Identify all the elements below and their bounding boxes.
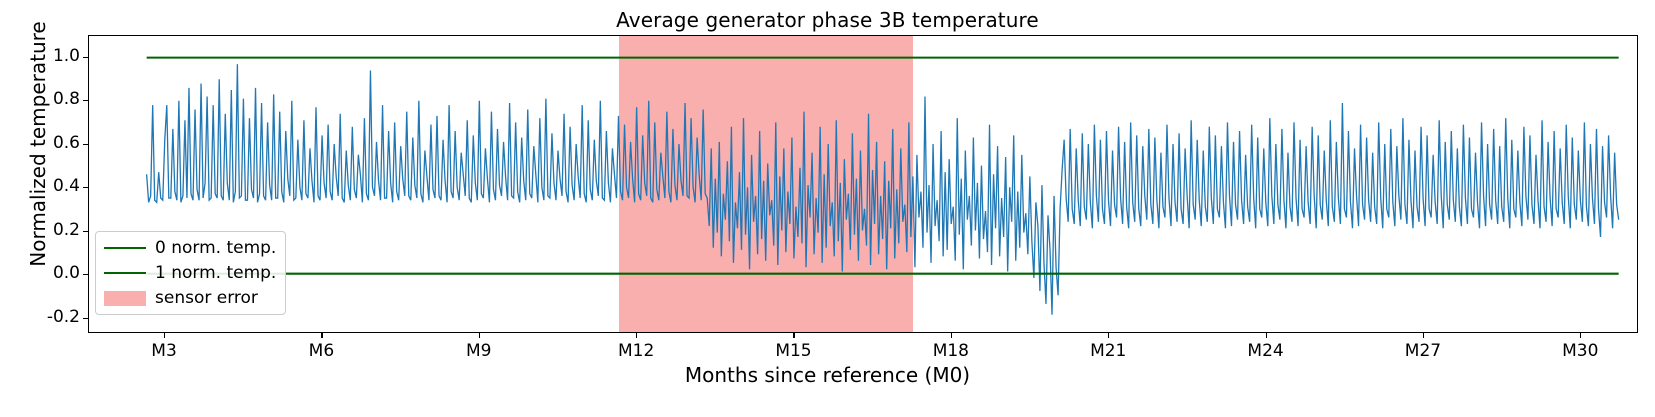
- x-tick-mark: [164, 333, 165, 338]
- legend-label: 1 norm. temp.: [155, 265, 276, 282]
- x-tick-mark: [951, 333, 952, 338]
- x-tick-mark: [479, 333, 480, 338]
- x-tick-label: M3: [124, 341, 204, 361]
- legend-line-icon: [104, 247, 146, 249]
- y-tick-label: 0.2: [20, 220, 80, 240]
- x-tick-mark: [321, 333, 322, 338]
- plot-area[interactable]: [88, 35, 1638, 333]
- x-tick-label: M21: [1068, 341, 1148, 361]
- y-tick-label: 0.4: [20, 176, 80, 196]
- legend-line-icon: [104, 272, 146, 274]
- legend-label: 0 norm. temp.: [155, 240, 276, 257]
- legend-patch-icon: [104, 291, 146, 306]
- x-tick-mark: [1108, 333, 1109, 338]
- y-tick-label: 0.8: [20, 89, 80, 109]
- y-tick-label: 1.0: [20, 46, 80, 66]
- figure-canvas: Average generator phase 3B temperature N…: [0, 0, 1655, 417]
- temperature-line: [147, 64, 1619, 315]
- chart-title: Average generator phase 3B temperature: [0, 8, 1655, 32]
- legend-item-1: 1 norm. temp.: [104, 263, 276, 283]
- x-tick-label: M18: [911, 341, 991, 361]
- y-tick-label: 0.6: [20, 133, 80, 153]
- chart-legend[interactable]: 0 norm. temp. 1 norm. temp. sensor error: [95, 231, 286, 315]
- x-tick-label: M30: [1540, 341, 1620, 361]
- x-tick-label: M27: [1383, 341, 1463, 361]
- x-tick-label: M15: [753, 341, 833, 361]
- x-axis-label: Months since reference (M0): [0, 363, 1655, 387]
- x-tick-mark: [1266, 333, 1267, 338]
- x-tick-label: M24: [1226, 341, 1306, 361]
- y-tick-label: -0.2: [20, 307, 80, 327]
- x-tick-label: M9: [439, 341, 519, 361]
- x-tick-mark: [793, 333, 794, 338]
- legend-label: sensor error: [155, 290, 258, 307]
- x-tick-label: M12: [596, 341, 676, 361]
- legend-item-0: 0 norm. temp.: [104, 238, 276, 258]
- legend-item-2: sensor error: [104, 288, 276, 308]
- y-tick-label: 0.0: [20, 263, 80, 283]
- x-tick-mark: [1423, 333, 1424, 338]
- series-lines: [89, 36, 1637, 332]
- x-tick-mark: [636, 333, 637, 338]
- x-tick-label: M6: [281, 341, 361, 361]
- x-tick-mark: [1580, 333, 1581, 338]
